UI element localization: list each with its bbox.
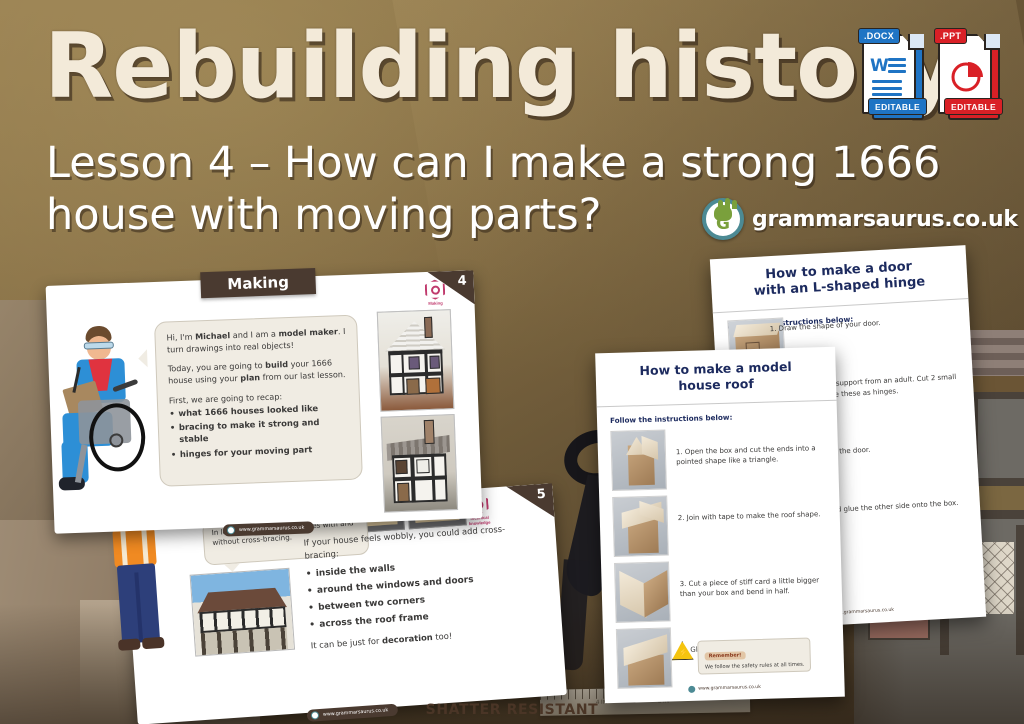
docx-editable-label: EDITABLE (868, 98, 927, 115)
grammarsaurus-dino-icon: G (702, 198, 744, 240)
worker-illustration (103, 508, 181, 682)
docx-badge[interactable]: W .DOCX EDITABLE (862, 34, 924, 120)
worksheet-roof-watermark: www.grammarsaurus.co.uk (688, 684, 761, 693)
speech-paragraph-1: Hi, I'm Michael and I am a model maker. … (166, 325, 346, 356)
cross-bracing-list: inside the walls around the windows and … (305, 553, 539, 634)
model-house-photo-2 (381, 414, 458, 513)
pie-chart-icon (950, 58, 986, 97)
slide-4-title-banner: Making (200, 268, 316, 298)
slide-4-speech-bubble: Hi, I'm Michael and I am a model maker. … (154, 315, 363, 487)
brand-name: grammarsaurus.co.uk (752, 207, 1018, 232)
warning-triangle-icon (671, 641, 694, 661)
remember-callout: Remember! We follow the safety rules at … (671, 638, 811, 676)
docx-ext-label: .DOCX (858, 28, 900, 44)
recap-list: what 1666 houses looked like bracing to … (169, 401, 350, 461)
model-house-photo-1 (377, 309, 455, 412)
roof-step-photo-1 (610, 429, 667, 491)
slide-preview-canvas: 4 IN 5 IN Rebuilding history Lesson 4 – … (0, 0, 1024, 724)
roof-step-photo-3 (614, 561, 671, 623)
brand-logo[interactable]: G grammarsaurus.co.uk (702, 198, 1018, 240)
word-icon: W (870, 56, 889, 76)
worksheet-roof-title: How to make a model house roof (595, 347, 836, 407)
slide-4-skill-badge: Making (422, 279, 449, 306)
ppt-ext-label: .PPT (934, 28, 967, 44)
slide-card-4[interactable]: 4 Making Making Hi, I'm Mi (46, 270, 483, 534)
slide-5-body-text: If your house feels wobbly, you could ad… (303, 521, 541, 653)
speech-paragraph-2: Today, you are going to build your 1666 … (167, 356, 347, 387)
header: Rebuilding history Lesson 4 – How can I … (0, 0, 1024, 258)
roof-step-2: 2. Join with tape to make the roof shape… (677, 491, 820, 523)
shatter-resistant-label: SHATTER RESISTANT (0, 702, 1024, 718)
roof-step-1: 1. Open the box and cut the ends into a … (675, 424, 828, 467)
roof-step-row-3: 3. Cut a piece of stiff card a little bi… (601, 556, 843, 623)
page-title: Rebuilding history (44, 22, 958, 112)
roof-step-photo-2 (612, 495, 669, 557)
ppt-badge[interactable]: .PPT EDITABLE (938, 34, 1000, 120)
format-badges: W .DOCX EDITABLE .PPT EDITABLE (862, 34, 1000, 120)
roof-step-row-1: 1. Open the box and cut the ends into a … (597, 424, 839, 491)
roof-step-row-2: 2. Join with tape to make the roof shape… (599, 490, 841, 557)
tudor-market-hall-photo (190, 568, 295, 657)
worksheet-model-roof[interactable]: How to make a model house roof Follow th… (595, 347, 845, 704)
roof-step-3: 3. Cut a piece of stiff card a little bi… (679, 556, 832, 599)
remember-message: We follow the safety rules at all times. (705, 662, 805, 671)
roof-step-photo-4 (616, 627, 673, 689)
slide-5-number-badge: 5 (506, 483, 554, 520)
remember-title: Remember! (705, 651, 746, 660)
ppt-editable-label: EDITABLE (944, 98, 1003, 115)
